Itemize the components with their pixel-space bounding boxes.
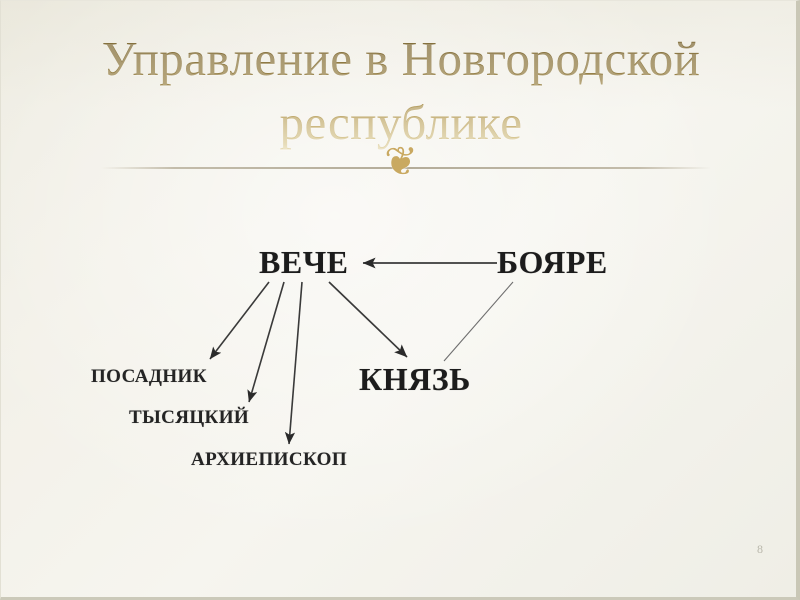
diagram-node-arhiepiskop: АРХИЕПИСКОП [191,449,347,471]
edge-veche-posadnik [210,282,269,359]
slide-page-number: 8 [757,542,763,557]
edge-veche-arhiepiskop [289,282,302,444]
diagram-node-knyaz: КНЯЗЬ [359,361,471,398]
diagram-node-posadnik: ПОСАДНИК [91,366,207,388]
governance-diagram: ВЕЧЕ БОЯРЕ КНЯЗЬ ПОСАДНИК ТЫСЯЦКИЙ АРХИЕ… [1,1,800,600]
diagram-node-boyare: БОЯРЕ [497,244,608,281]
edge-boyare-knyaz [444,282,513,361]
diagram-node-veche: ВЕЧЕ [259,244,349,281]
diagram-connectors [1,1,800,600]
diagram-node-tysyatsky: ТЫСЯЦКИЙ [129,407,249,429]
edge-veche-knyaz [329,282,407,357]
presentation-slide: Управление в Новгородской республике ❦ [0,0,800,600]
